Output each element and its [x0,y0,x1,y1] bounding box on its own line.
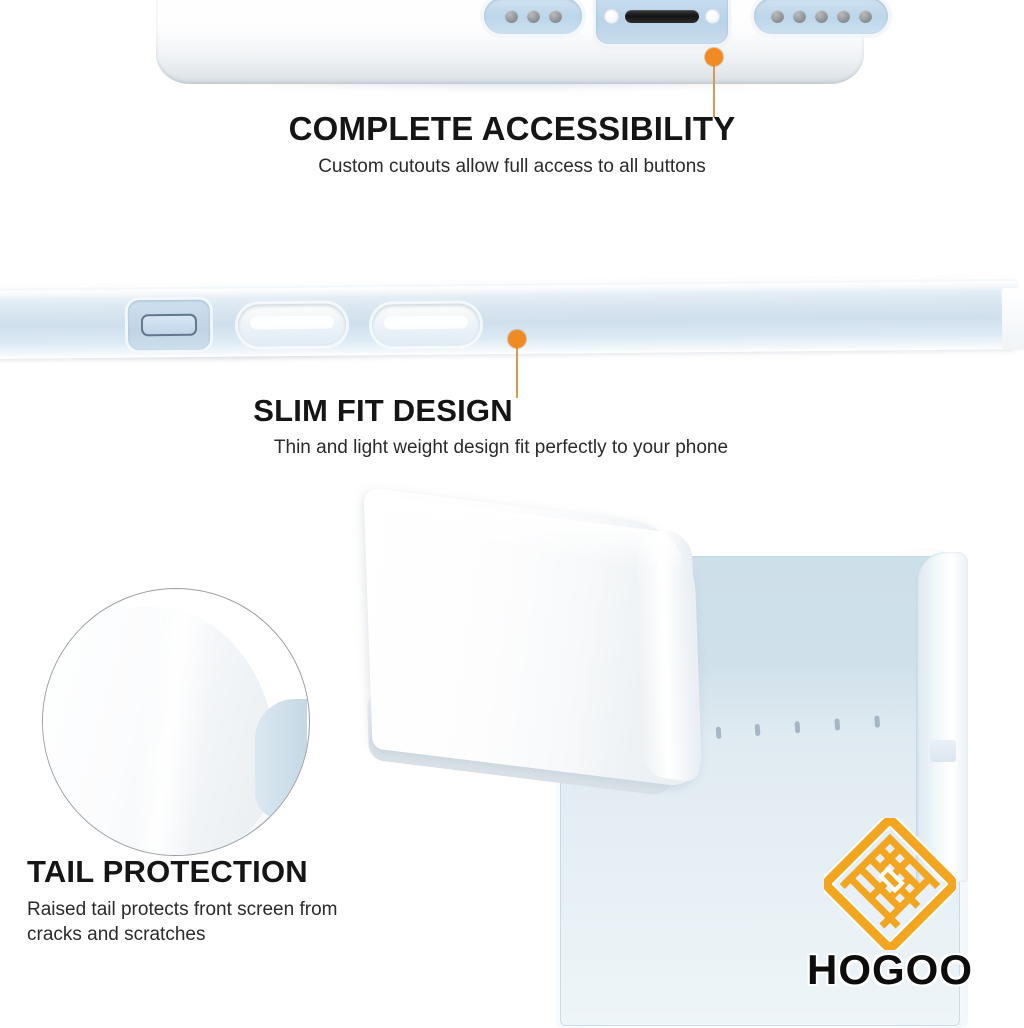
feature-block-slim-fit-design: SLIM FIT DESIGN Thin and light weight de… [0,395,1024,461]
speaker-grille-left-cutout [484,0,582,34]
speaker-hole [837,10,850,23]
volume-up-button-cutout [238,303,346,346]
feature-block-complete-accessibility: COMPLETE ACCESSIBILITY Custom cutouts al… [0,112,1024,180]
callout-leader-line-accessibility [713,62,715,117]
speaker-hole [771,10,784,23]
callout-marker-accessibility [705,48,723,66]
mute-switch-cutout [128,300,210,351]
feature-subtitle: Raised tail protects front screen from c… [27,898,397,947]
volume-down-button-cutout [372,303,480,346]
feature-subtitle: Thin and light weight design fit perfect… [0,436,1024,460]
speaker-hole [815,10,828,23]
speaker-hole [527,10,540,23]
feature-block-tail-protection: TAIL PROTECTION Raised tail protects fro… [27,856,457,947]
feature-title: TAIL PROTECTION [27,856,457,888]
magnified-phone-edge [255,699,307,819]
speaker-hole [505,10,518,23]
mute-switch-inner-detail [141,314,197,337]
callout-marker-slimfit [508,330,526,348]
charging-port-cutout [596,0,728,44]
speaker-hole [549,10,562,23]
usb-c-port-slot [625,10,699,23]
feature-title: SLIM FIT DESIGN [0,395,1024,427]
speaker-hole [793,10,806,23]
brand-wordmark: HOGOO [770,946,1010,994]
case-side-edge-endcap [1002,288,1024,350]
feature-title: COMPLETE ACCESSIBILITY [0,112,1024,146]
feature-subtitle: Custom cutouts allow full access to all … [0,155,1024,179]
hogoo-diamond-maze-icon [824,818,956,950]
port-screw-left-icon [604,9,619,24]
callout-leader-line-slimfit [516,344,518,398]
brand-logo: HOGOO [770,818,1010,1004]
infographic-canvas: COMPLETE ACCESSIBILITY Custom cutouts al… [0,0,1024,1024]
phone-case-bottom-edge-photo [156,0,864,84]
speaker-grille-right-cutout [754,0,888,34]
speaker-hole [859,10,872,23]
magnified-corner-detail-inset [42,588,310,856]
port-screw-right-icon [705,9,720,24]
